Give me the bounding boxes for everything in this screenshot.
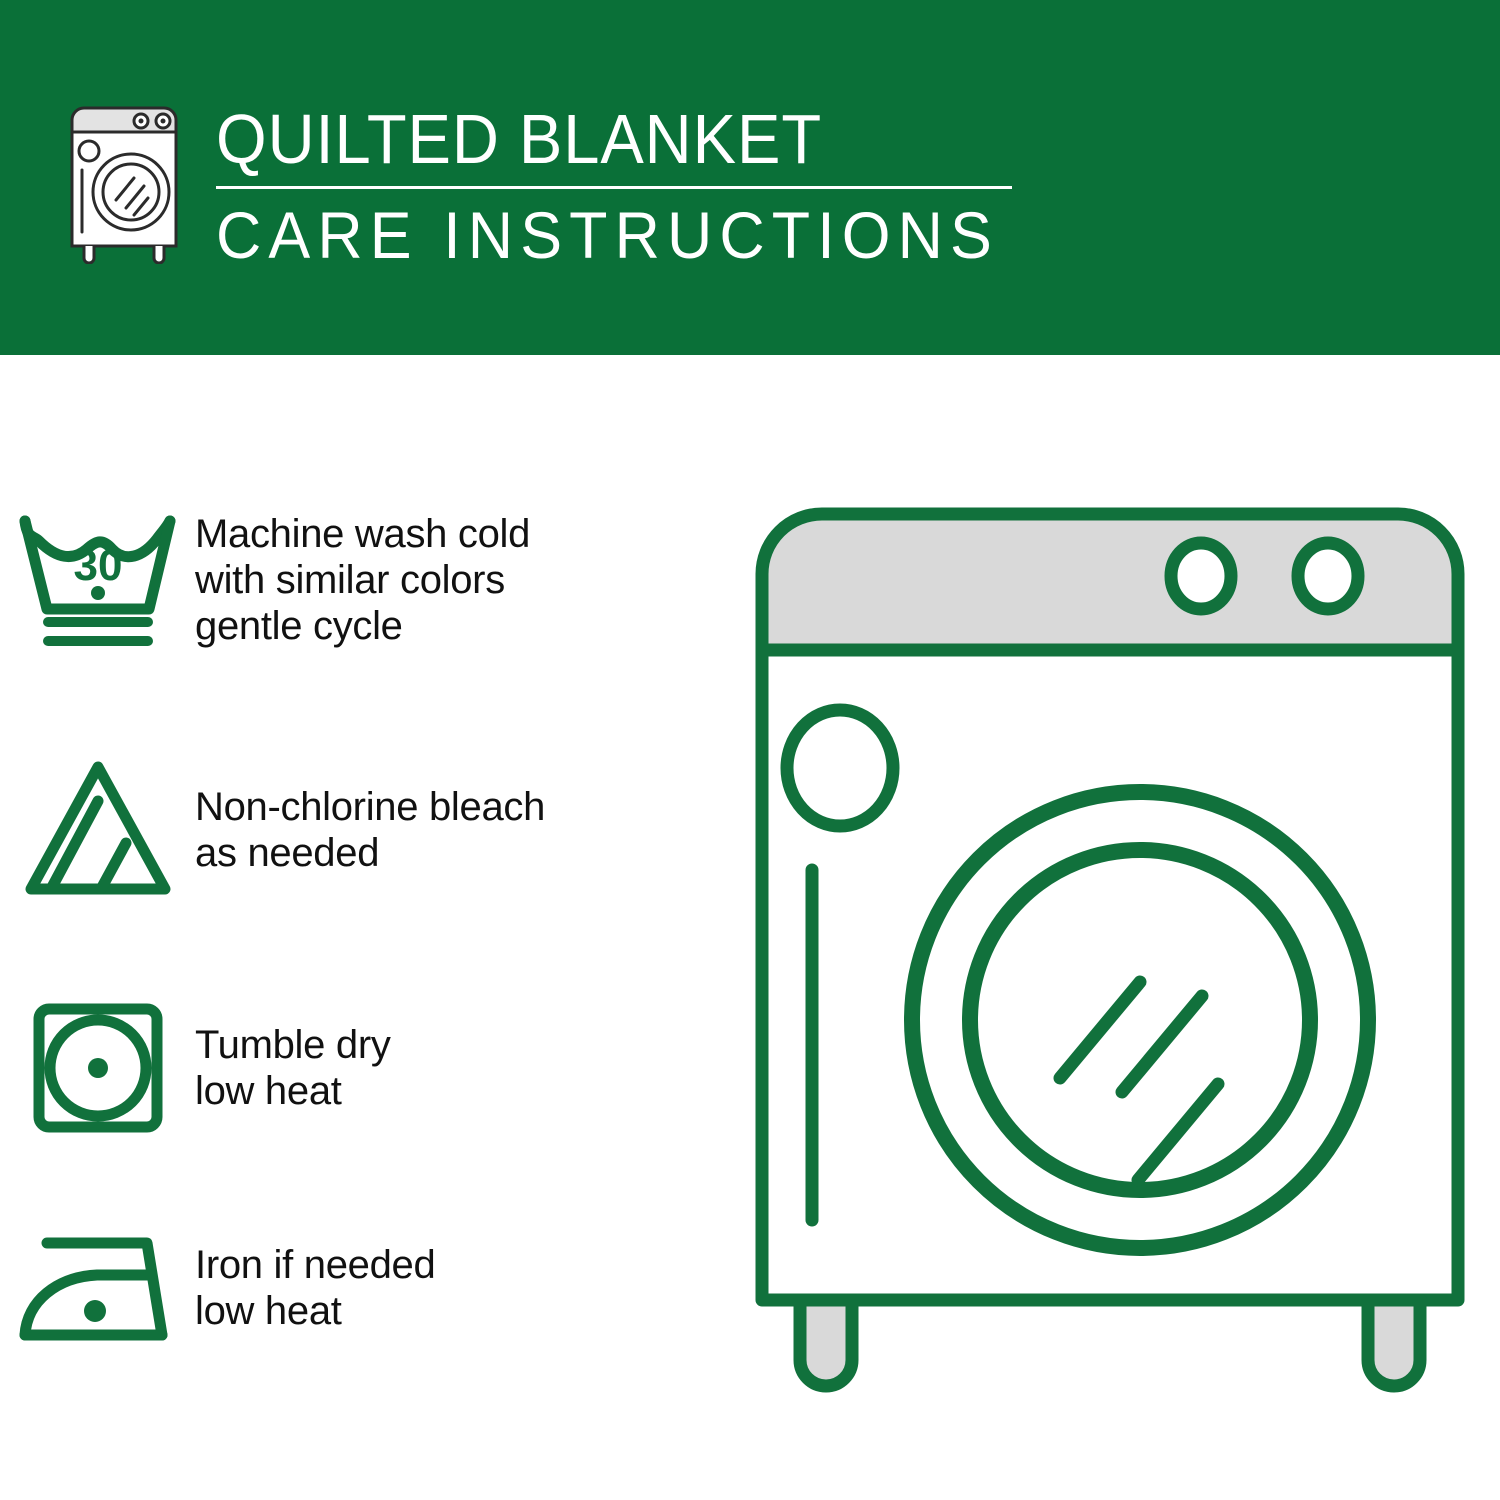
- care-item-tumble-dry: Tumble dry low heat: [0, 993, 730, 1143]
- drum-door-inner-ring: [970, 850, 1310, 1190]
- care-instruction-list: 30 Machine wash cold with similar colors…: [0, 355, 730, 1500]
- care-item-bleach: Non-chlorine bleach as needed: [0, 755, 730, 905]
- care-item-machine-wash: 30 Machine wash cold with similar colors…: [0, 505, 730, 655]
- front-load-washing-machine-illustration: [740, 480, 1480, 1430]
- detergent-port: [787, 710, 893, 826]
- foot-right: [1368, 1300, 1420, 1386]
- foot-left: [800, 1300, 852, 1386]
- dial-left: [1171, 543, 1231, 609]
- page-title: QUILTED BLANKET: [216, 100, 1146, 178]
- title-divider: [216, 186, 1012, 189]
- header-text-block: QUILTED BLANKET CARE INSTRUCTIONS: [216, 100, 1216, 273]
- header-banner: QUILTED BLANKET CARE INSTRUCTIONS: [0, 0, 1500, 355]
- care-item-iron: Iron if needed low heat: [0, 1213, 730, 1363]
- dial-right: [1298, 543, 1358, 609]
- care-item-label: Tumble dry low heat: [195, 1022, 730, 1114]
- wash-temperature-label: 30: [73, 541, 122, 590]
- wash-tub-30-gentle-icon: 30: [0, 505, 195, 655]
- bleach-triangle-non-chlorine-icon: [0, 755, 195, 905]
- page-subtitle: CARE INSTRUCTIONS: [216, 197, 1166, 273]
- tumble-dry-low-heat-icon: [0, 993, 195, 1143]
- care-item-label: Iron if needed low heat: [195, 1242, 730, 1334]
- iron-low-heat-icon: [0, 1213, 195, 1363]
- care-item-label: Machine wash cold with similar colors ge…: [195, 511, 730, 649]
- washing-machine-icon: [62, 104, 194, 264]
- care-item-label: Non-chlorine bleach as needed: [195, 784, 730, 876]
